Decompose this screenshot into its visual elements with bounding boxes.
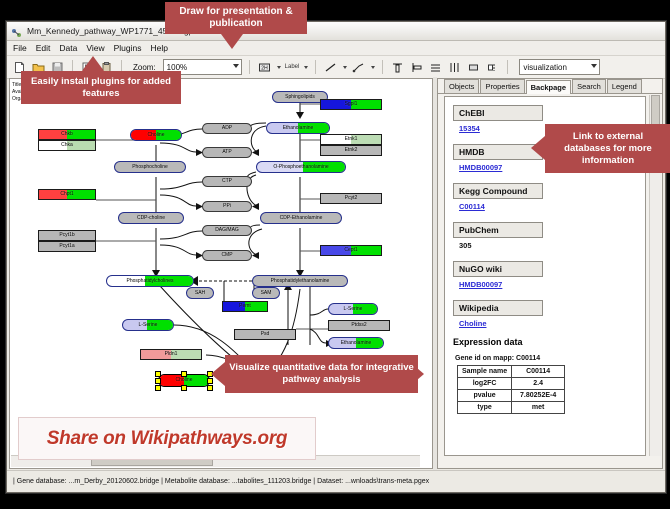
gene-etnk2[interactable]: Etnk2 [320,145,382,156]
cell-value: met [512,402,565,414]
pathvisio-icon [11,26,22,37]
node-label: Sphingolipids [285,95,315,100]
interaction-tool-icon[interactable] [351,60,366,75]
backpage-link-kegg[interactable]: C00114 [459,202,645,211]
node-label: Chpt1 [60,192,73,197]
menu-data[interactable]: Data [59,43,77,53]
node-phosphatidylcholines[interactable]: Phosphatidylcholines [106,275,194,287]
gene-chpt1[interactable]: Chpt1 [38,189,96,200]
cell-value: 2.4 [512,378,565,390]
side-panel-tabs: Objects Properties Backpage Search Legen… [438,79,662,94]
selection-handle-s[interactable] [181,385,187,391]
line-tool-icon[interactable] [323,60,338,75]
node-label: Ethanolamine [283,126,314,131]
backpage-value-pubchem: 305 [459,241,645,250]
expression-data-title: Expression data [453,337,645,347]
node-ctp[interactable]: CTP [202,176,252,187]
node-sam[interactable]: SAM [252,287,280,299]
node-label: O-Phosphoethanolamine [273,165,328,170]
backpage-header-kegg: Kegg Compound [453,183,543,199]
node-label: L-Serine [139,323,158,328]
chevron-down-icon [233,64,239,68]
status-text: | Gene database: ...m_Derby_20120602.bri… [7,478,429,485]
table-row: pvalue 7.80252E-4 [458,390,565,402]
callout-visualize: Visualize quantitative data for integrat… [225,355,418,393]
svg-text:2H: 2H [261,65,268,71]
node-label: CMP [221,253,232,258]
backpage-header-pubchem: PubChem [453,222,543,238]
backpage-link-nugowiki[interactable]: HMDB00097 [459,280,645,289]
node-l-serine-left[interactable]: L-Serine [122,319,174,331]
menu-view[interactable]: View [86,43,104,53]
node-label: Etnk1 [345,137,358,142]
node-label: Ptdss2 [351,323,366,328]
label-tool-label[interactable]: Label [285,64,300,70]
callout-plugins: Easily install plugins for added feature… [21,71,181,104]
node-adp[interactable]: ADP [202,123,252,134]
node-label: CTP [222,179,232,184]
selection-handle-sw[interactable] [155,385,161,391]
menu-file[interactable]: File [13,43,27,53]
statusbar: | Gene database: ...m_Derby_20120602.bri… [7,470,665,492]
visualization-value: visualization [523,63,567,72]
datanode-tool-icon[interactable]: 2H [257,60,272,75]
selection-handle-n[interactable] [181,371,187,377]
node-label: Sgpl1 [345,102,358,107]
node-label: Cept1 [344,248,357,253]
menu-plugins[interactable]: Plugins [114,43,142,53]
window-titlebar: Mm_Kennedy_pathway_WP1771_45176.gpml [7,22,665,41]
node-label: CDP-choline [137,216,165,221]
gene-pemt[interactable]: Pemt [222,301,268,312]
node-ppi[interactable]: PPi [202,201,252,212]
node-label: Chka [61,143,73,148]
cell-value: C00114 [512,366,565,378]
node-label: SAH [195,291,205,296]
visualization-combo[interactable]: visualization [519,59,600,75]
callout-draw-arrow-icon [221,34,243,49]
ungroup-icon[interactable] [485,60,500,75]
cell-label: log2FC [458,378,512,390]
node-label: Phosphocholine [132,165,168,170]
table-row: Sample name C00114 [458,366,565,378]
gene-cept1[interactable]: Cept1 [320,245,382,256]
callout-plugins-arrow-icon [82,56,104,71]
gene-pcyt1b[interactable]: Pcyt1b [38,230,96,241]
node-label: Pcyt1a [59,244,74,249]
cell-label: Sample name [458,366,512,378]
gene-chka[interactable]: Chka [38,140,96,151]
chevron-down-icon[interactable] [304,66,308,69]
menubar: File Edit Data View Plugins Help [7,41,665,56]
node-label: Pcyt2 [345,196,358,201]
expression-subtitle: Gene id on mapp: C00114 [455,355,645,362]
gene-etnk1[interactable]: Etnk1 [320,134,382,145]
menu-edit[interactable]: Edit [36,43,51,53]
node-label: Pldn1 [165,352,178,357]
chevron-down-icon [591,64,597,68]
backpage-header-nugowiki: NuGO wiki [453,261,543,277]
gene-sgpl1[interactable]: Sgpl1 [320,99,382,110]
tab-properties[interactable]: Properties [480,79,524,93]
node-label: Ethanolamine [341,341,372,346]
chevron-down-icon[interactable] [343,66,347,69]
node-cmp[interactable]: CMP [202,250,252,261]
node-choline[interactable]: Choline [130,129,182,141]
tab-search[interactable]: Search [572,79,606,93]
toolbar-separator-3 [249,60,250,74]
table-row: type met [458,402,565,414]
node-label: Chkb [61,132,73,137]
node-l-serine-right[interactable]: L-Serine [328,303,378,315]
gene-chkb[interactable]: Chkb [38,129,96,140]
node-dag-mag[interactable]: DAG/MAG [202,225,252,236]
gene-pcyt1a[interactable]: Pcyt1a [38,241,96,252]
node-o-phosphoethanolamine[interactable]: O-Phosphoethanolamine [256,161,346,173]
gene-pcyt2[interactable]: Pcyt2 [320,193,382,204]
callout-draw: Draw for presentation & publication [165,2,307,34]
node-ethanolamine-top[interactable]: Ethanolamine [266,122,330,134]
toolbar-separator-4 [315,60,316,74]
callout-visualize-arrow-icon [211,362,225,386]
node-label: Phosphatidylethanolamine [271,279,330,284]
node-atp[interactable]: ATP [202,147,252,158]
table-row: log2FC 2.4 [458,378,565,390]
toolbar-separator-5 [382,60,383,74]
backpage-header-hmdb: HMDB [453,144,543,160]
gene-pldn1[interactable]: Pldn1 [140,349,202,360]
screenshot-root: Mm_Kennedy_pathway_WP1771_45176.gpml Fil… [0,0,670,509]
chevron-down-icon[interactable] [371,66,375,69]
node-sah[interactable]: SAH [186,287,214,299]
backpage-header-wikipedia: Wikipedia [453,300,543,316]
distribute-icon[interactable] [447,60,462,75]
node-label: DAG/MAG [215,228,239,233]
tab-backpage[interactable]: Backpage [526,80,571,94]
node-label: Etnk2 [345,148,358,153]
backpage-header-chebi: ChEBI [453,105,543,121]
selection-handle-w[interactable] [155,378,161,384]
node-label: ADP [222,126,232,131]
group-icon[interactable] [466,60,481,75]
cell-label: type [458,402,512,414]
node-label: Pcyt1b [59,233,74,238]
tab-objects[interactable]: Objects [444,79,479,93]
node-label: Pemt [239,304,251,309]
node-label: Choline [176,378,193,383]
node-label: SAM [261,291,272,296]
share-text: Share on Wikipathways.org [47,428,287,450]
expression-table: Sample name C00114 log2FC 2.4 pvalue 7.8… [457,365,565,414]
node-cdp-choline[interactable]: CDP-choline [118,212,184,224]
node-label: L-Serine [344,307,363,312]
stack-icon[interactable] [428,60,443,75]
callout-external-arrow-icon [531,136,545,160]
node-label: CDP-Ethanolamine [280,216,323,221]
node-ethanolamine-bottom[interactable]: Ethanolamine [328,337,384,349]
align-top-icon[interactable] [390,60,405,75]
callout-share: Share on Wikipathways.org [18,417,316,460]
node-label: Phosphatidylcholines [127,279,174,284]
pathway-canvas[interactable]: Title: Availa Organi [9,78,433,469]
node-label: ATP [222,150,231,155]
cell-value: 7.80252E-4 [512,390,565,402]
node-phosphocholine[interactable]: Phosphocholine [114,161,186,173]
align-left-icon[interactable] [409,60,424,75]
node-cdp-ethanolamine[interactable]: CDP-Ethanolamine [260,212,342,224]
gene-ptdss2[interactable]: Ptdss2 [328,320,390,331]
toolbar-separator-6 [507,60,508,74]
selection-handle-nw[interactable] [155,371,161,377]
gene-psd[interactable]: Psd [234,329,296,340]
node-phosphatidylethanolamine[interactable]: Phosphatidylethanolamine [252,275,348,287]
cell-label: pvalue [458,390,512,402]
chevron-down-icon[interactable] [277,66,281,69]
node-label: PPi [223,204,231,209]
node-label: Choline [148,133,165,138]
node-label: Psd [261,332,270,337]
tab-legend[interactable]: Legend [607,79,642,93]
backpage-link-wikipedia[interactable]: Choline [459,319,645,328]
callout-external-db: Link to external databases for more info… [545,124,670,173]
menu-help[interactable]: Help [151,43,168,53]
